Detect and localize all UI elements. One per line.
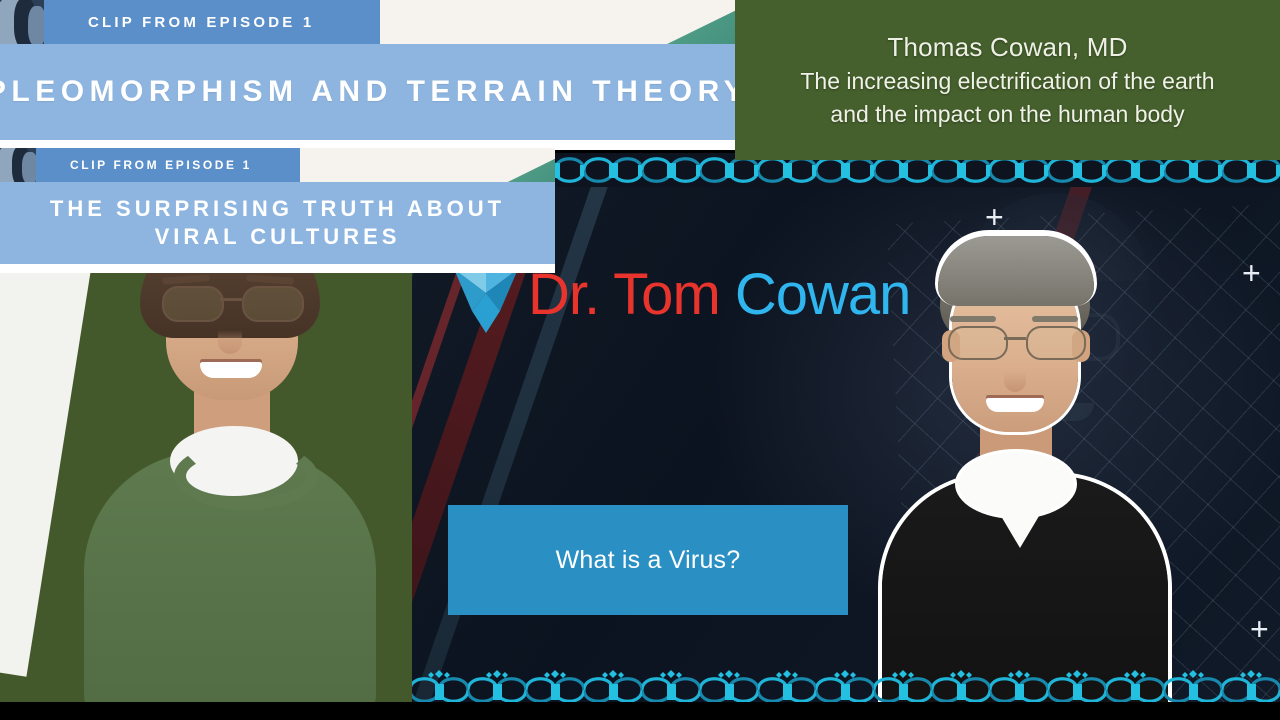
- dna-helix-border-bottom: [410, 668, 1280, 702]
- clip-title-line-2: VIRAL CULTURES: [155, 224, 401, 250]
- plus-marker-icon: +: [1250, 613, 1269, 645]
- letterbox-bottom-bar: [0, 702, 1280, 720]
- talk-title-line-2: and the impact on the human body: [830, 99, 1184, 130]
- plus-marker-icon: +: [985, 201, 1004, 233]
- clip-episode-tag-label: CLIP FROM EPISODE 1: [44, 14, 314, 31]
- clip-episode-tag-label: CLIP FROM EPISODE 1: [36, 158, 252, 172]
- clip-title-bar: THE SURPRISING TRUTH ABOUT VIRAL CULTURE…: [0, 182, 555, 264]
- question-banner: What is a Virus?: [448, 505, 848, 615]
- speaker-name: Thomas Cowan, MD: [887, 30, 1127, 64]
- clip-banner-viral-cultures: CLIP FROM EPISODE 1 THE SURPRISING TRUTH…: [0, 148, 555, 273]
- green-title-card: Thomas Cowan, MD The increasing electrif…: [735, 0, 1280, 160]
- clip-banner-pleomorphism: CLIP FROM EPISODE 1 PLEOMORPHISM AND TER…: [0, 0, 735, 150]
- clip-title-bar: PLEOMORPHISM AND TERRAIN THEORY: [0, 44, 735, 140]
- speaker-photo-right: [880, 238, 1170, 702]
- screenshot-stage: + + + Dr. Tom Cowan: [0, 0, 1280, 720]
- clip-title-line-1: THE SURPRISING TRUTH ABOUT: [50, 196, 505, 222]
- clip-title: PLEOMORPHISM AND TERRAIN THEORY: [0, 75, 735, 109]
- clip-thumbnail: [0, 148, 36, 182]
- talk-title-line-1: The increasing electrification of the ea…: [800, 66, 1214, 97]
- clip-episode-tag: CLIP FROM EPISODE 1: [44, 0, 380, 44]
- logo-text-prefix: Dr. Tom: [528, 262, 720, 327]
- question-banner-text: What is a Virus?: [556, 546, 741, 575]
- clip-thumbnail: [0, 0, 44, 44]
- banner-footer-strip: [0, 264, 555, 273]
- banner-white-strip: [300, 148, 555, 182]
- clip-episode-tag: CLIP FROM EPISODE 1: [36, 148, 300, 182]
- plus-marker-icon: +: [1242, 257, 1261, 289]
- logo-text: Dr. Tom Cowan: [528, 265, 910, 325]
